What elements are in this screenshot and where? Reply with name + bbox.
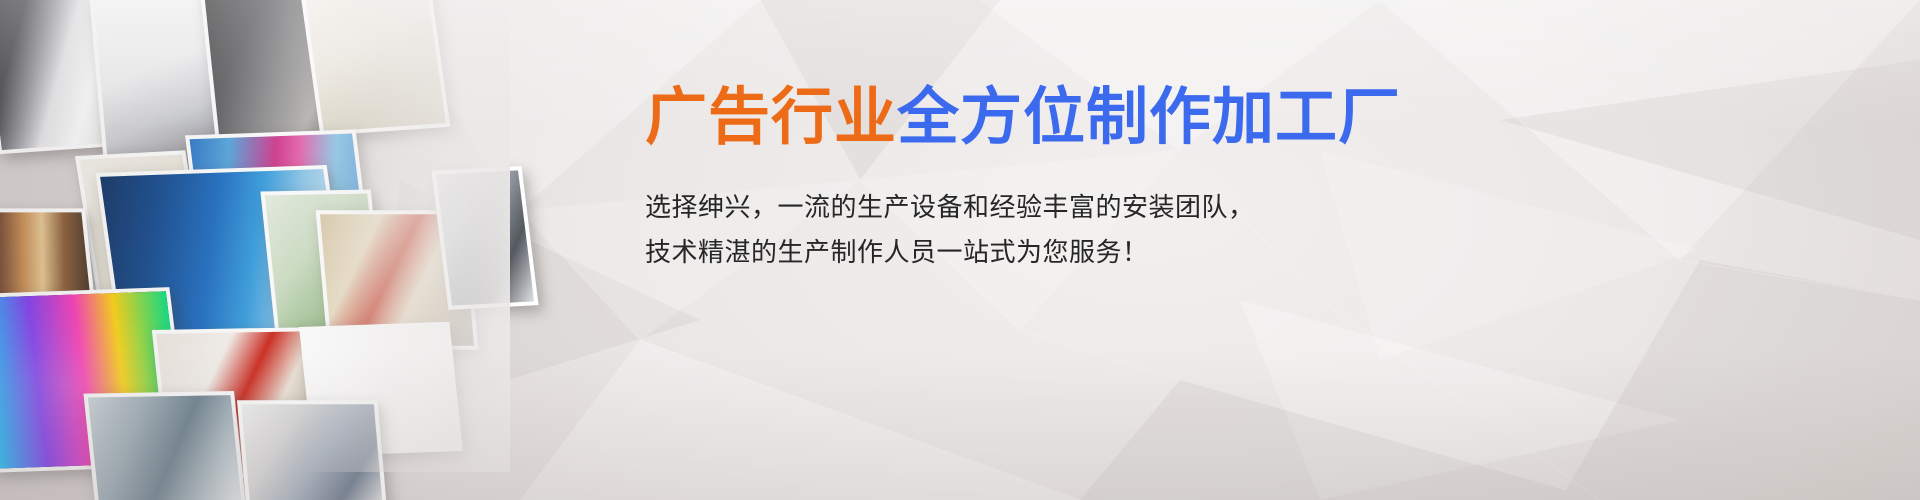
photo-collage [0,0,490,500]
promo-banner: 广告行业全方位制作加工厂 选择绅兴，一流的生产设备和经验丰富的安装团队， 技术精… [0,0,1920,500]
collage-photo-calligraphy-sign [300,0,451,136]
subcopy-line-1: 选择绅兴，一流的生产设备和经验丰富的安装团队， [645,186,1345,231]
headline-segment-orange: 广告行业 [645,80,897,153]
headline-segment-blue: 全方位制作加工厂 [897,80,1401,153]
subcopy-line-2: 技术精湛的生产制作人员一站式为您服务！ [645,231,1345,276]
banner-copy: 广告行业全方位制作加工厂 选择绅兴，一流的生产设备和经验丰富的安装团队， 技术精… [645,86,1345,275]
banner-subcopy: 选择绅兴，一流的生产设备和经验丰富的安装团队， 技术精湛的生产制作人员一站式为您… [645,186,1345,275]
collage-photo-display-stand [237,400,387,500]
collage-photo-glass-facade [83,391,246,500]
banner-headline: 广告行业全方位制作加工厂 [645,86,1345,148]
collage-photo-car-poster [431,166,538,310]
